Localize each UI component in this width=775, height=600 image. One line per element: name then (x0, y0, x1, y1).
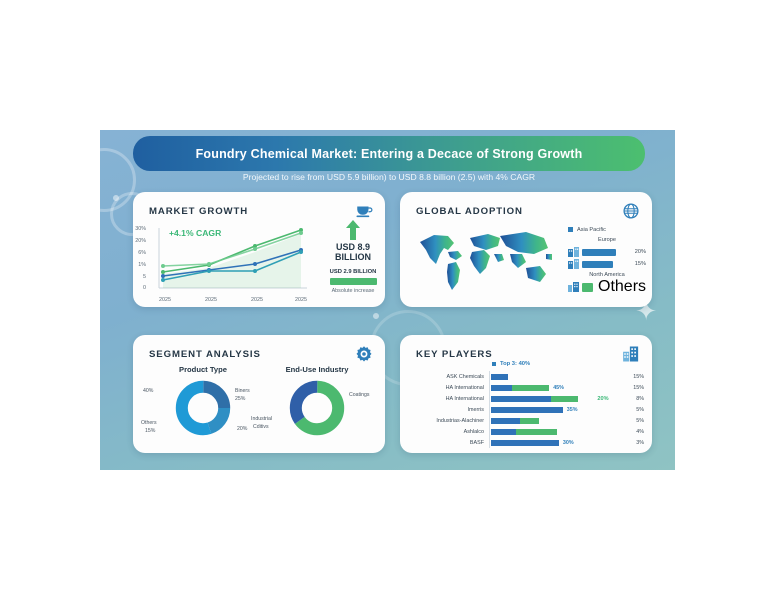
donut-end-use-industry: End-Use Industry Coatings Industrial Cdi… (257, 365, 377, 442)
player-bars (489, 426, 588, 437)
donut-label: 15% (145, 428, 155, 435)
donut-label: Cditivs (253, 424, 269, 431)
legend-label: Top 3: 40% (500, 361, 530, 367)
player-bars: 35% (489, 404, 588, 415)
card-global-adoption: GLOBAL ADOPTION (400, 192, 652, 307)
legend-value: 20% (635, 249, 646, 255)
legend-dot-icon (492, 362, 496, 366)
legend-label: Asia Pacific (577, 227, 606, 233)
table-row: BASF 30% 3% (408, 437, 644, 448)
y-tick-label: 20% (135, 238, 146, 244)
bar-segment-green (512, 385, 549, 391)
player-name: Industrias-Alachiner (408, 418, 489, 424)
donut-label: Coatings (349, 392, 369, 399)
world-map (414, 224, 564, 296)
card-header: MARKET GROWTH (149, 202, 373, 220)
building-icon (622, 345, 640, 363)
bar-segment-green (516, 429, 557, 435)
donut-title: Product Type (143, 365, 263, 374)
y-tick-label: 0 (143, 285, 146, 291)
legend-dot-icon (568, 227, 573, 232)
card-header: SEGMENT ANALYSIS (149, 345, 373, 363)
player-share: 5% (618, 418, 644, 424)
donut-label: Biners (235, 388, 250, 395)
player-name: Ashlalco (408, 429, 489, 435)
bar-segment-blue (491, 407, 563, 413)
y-tick-label: 5 (143, 274, 146, 280)
infographic-canvas: ✦ Foundry Chemical Market: Entering a De… (100, 130, 675, 470)
x-tick-label: 2025 (251, 297, 263, 303)
donut-holder: 40% Biners 25% 20% Others 15% (143, 378, 263, 442)
legend-label: Others (598, 278, 646, 296)
card-key-players: KEY PLAYERS Top 3: 40% ASK Chemicals (400, 335, 652, 453)
player-share: 8% (618, 396, 644, 402)
world-map-svg (414, 224, 564, 296)
key-players-legend: Top 3: 40% (492, 361, 530, 367)
bar-segment-blue (491, 418, 520, 424)
donut-label: 20% (237, 426, 247, 433)
bar-segment-blue (491, 440, 559, 446)
bar-annotation: 20% (588, 396, 618, 402)
crucible-cup-icon (355, 202, 373, 220)
player-name: ASK Chemicals (408, 374, 489, 380)
legend-value: 15% (635, 261, 646, 267)
table-row: Industrias-Alachiner 5% (408, 415, 644, 426)
screenshot-root: ✦ Foundry Chemical Market: Entering a De… (0, 0, 775, 600)
page-title: Foundry Chemical Market: Entering a Deca… (196, 147, 583, 161)
headline-value: USD 8.9 BILLION (323, 242, 383, 262)
player-bars: 30% (489, 437, 588, 448)
player-share: 15% (618, 374, 644, 380)
player-name: HA International (408, 385, 489, 391)
player-share: 4% (618, 429, 644, 435)
y-tick-label: 1% (138, 262, 146, 268)
donut-label: Industrial (251, 416, 272, 423)
growth-summary: USD 8.9 BILLION USD 2.9 BILLION Absolute… (323, 220, 383, 294)
player-share: 5% (618, 407, 644, 413)
card-header: GLOBAL ADOPTION (416, 202, 640, 220)
header-banner: Foundry Chemical Market: Entering a Deca… (133, 136, 645, 171)
bar-value-label: 45% (553, 385, 564, 391)
donut-product-type: Product Type 40% Biners 25% 20% Others 1… (143, 365, 263, 442)
donut-svg-product-type (175, 380, 231, 436)
donut-label: Others (141, 420, 157, 427)
card-segment-analysis: SEGMENT ANALYSIS Product Type 40% Biners… (133, 335, 385, 453)
player-name: BASF (408, 440, 489, 446)
donut-title: End-Use Industry (257, 365, 377, 374)
globe-icon (622, 202, 640, 220)
legend-item-europe: Europe (568, 235, 646, 246)
bar-segment-blue (491, 396, 551, 402)
player-name: HA International (408, 396, 489, 402)
card-title-segment-analysis: SEGMENT ANALYSIS (149, 349, 261, 360)
y-tick-label: 6% (138, 250, 146, 256)
bar-segment-green (520, 418, 539, 424)
building-icon (568, 282, 579, 292)
up-arrow-icon (345, 220, 361, 240)
legend-bar (582, 261, 613, 268)
legend-item-asia-pacific: Asia Pacific (568, 224, 646, 235)
legend-item-bar-20: 20% (568, 246, 646, 258)
cagr-annotation: +4.1% CAGR (169, 228, 221, 238)
card-market-growth: MARKET GROWTH (133, 192, 385, 307)
card-title-global-adoption: GLOBAL ADOPTION (416, 206, 523, 217)
donut-svg-end-use (289, 380, 345, 436)
table-row: Imerris 35% 5% (408, 404, 644, 415)
donut-label: 40% (143, 388, 153, 395)
player-share: 15% (618, 385, 644, 391)
secondary-value: USD 2.9 BILLION (323, 269, 383, 275)
donut-holder: Coatings Industrial Cditivs (257, 378, 377, 442)
table-row: HA International 45% 15% (408, 382, 644, 393)
legend-item-others: Others (568, 281, 646, 293)
legend-bar (582, 249, 616, 256)
key-players-table: ASK Chemicals 15% HA International 45% (408, 371, 644, 448)
building-icon (568, 259, 579, 269)
x-tick-label: 2025 (205, 297, 217, 303)
player-bars (489, 371, 588, 382)
card-title-market-growth: MARKET GROWTH (149, 206, 248, 217)
legend-item-bar-15: 15% (568, 258, 646, 270)
bar-segment-blue (491, 429, 516, 435)
bar-segment-blue (491, 385, 512, 391)
donut-label: 25% (235, 396, 245, 403)
building-icon (568, 247, 579, 257)
table-row: HA International 20% 8% (408, 393, 644, 404)
gear-icon (355, 345, 373, 363)
legend-caption: Absolute increase (323, 288, 383, 294)
bar-value-label: 30% (563, 440, 574, 446)
card-title-key-players: KEY PLAYERS (416, 349, 493, 360)
player-name: Imerris (408, 407, 489, 413)
legend-swatch (330, 278, 377, 285)
table-row: Ashlalco 4% (408, 426, 644, 437)
table-row: ASK Chemicals 15% (408, 371, 644, 382)
x-tick-label: 2025 (295, 297, 307, 303)
legend-square-icon (582, 283, 593, 292)
bar-segment-green (551, 396, 578, 402)
y-tick-label: 30% (135, 226, 146, 232)
bar-value-label: 35% (567, 407, 578, 413)
adoption-legend: Asia Pacific Europe 20% 15% (568, 224, 646, 293)
player-share: 3% (618, 440, 644, 446)
player-bars: 45% (489, 382, 588, 393)
page-subtitle: Projected to rise from USD 5.9 billion) … (133, 172, 645, 182)
player-bars (489, 415, 588, 426)
x-tick-label: 2025 (159, 297, 171, 303)
player-bars (489, 393, 588, 404)
bar-segment-blue (491, 374, 508, 380)
